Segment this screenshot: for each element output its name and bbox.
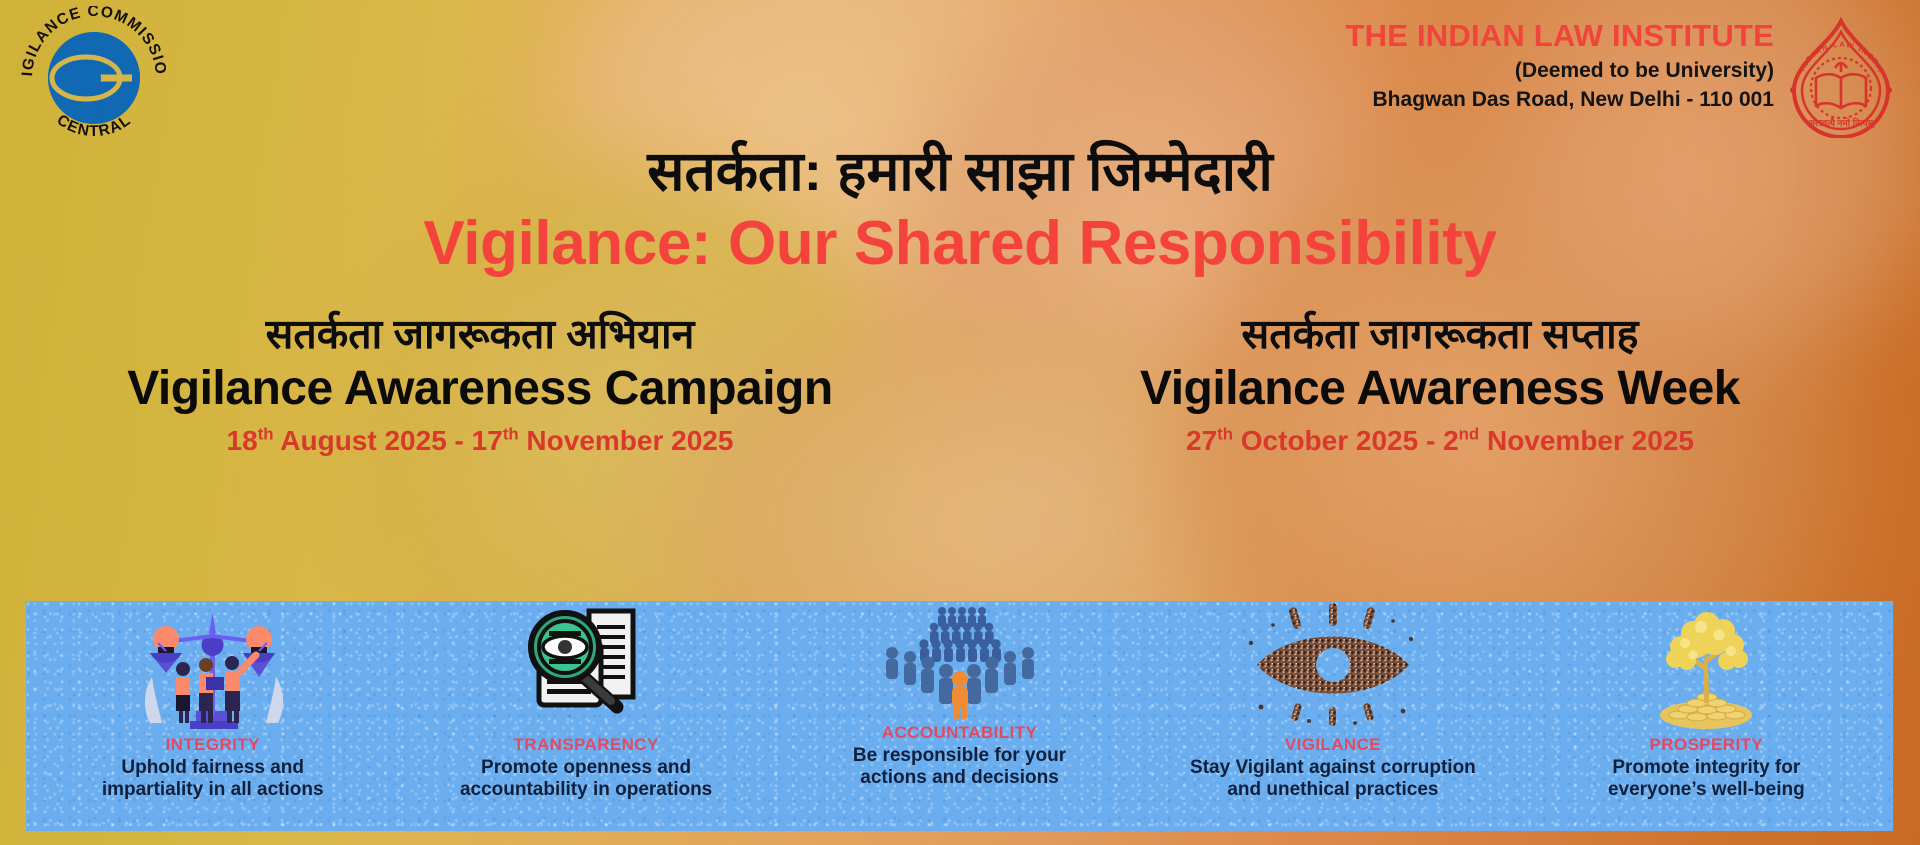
value-description-line1: Stay Vigilant against corruption [1190,757,1476,778]
campaign-date-end-suffix: th [503,425,519,444]
campaign-hindi-title: सतर्कता जागरूकता अभियान [0,310,960,359]
value-description-line2: accountability in operations [460,779,712,800]
value-title: VIGILANCE [1285,735,1381,755]
value-title: TRANSPARENCY [514,735,659,755]
value-description-line1: Promote openness and [481,757,691,778]
week-date-end-day: 2 [1443,425,1459,456]
week-date-start-rest: October 2025 - [1233,425,1443,456]
campaign-columns: सतर्कता जागरूकता अभियान Vigilance Awaren… [0,310,1920,458]
ili-title: THE INDIAN LAW INSTITUTE [1346,20,1774,53]
balance-scale-with-people-icon [128,601,298,733]
magnifier-eye-document-icon [511,601,661,733]
campaign-english-title: Vigilance Awareness Campaign [0,361,960,416]
value-card-accountability: ACCOUNTABILITY Be responsible for your a… [773,601,1146,831]
campaign-date-start-suffix: th [258,425,274,444]
value-description-line1: Promote integrity for [1612,757,1800,778]
value-description: Promote integrity for everyone’s well-be… [1608,757,1805,802]
indian-law-institute-seal-icon: THE INDIAN LAW INSTITUTE सरस्वत्यै नमो न… [1780,16,1902,138]
week-date-start-day: 27 [1186,425,1217,456]
campaign-date-end-rest: November 2025 [519,425,734,456]
vigilance-awareness-banner: VIGILANCE COMMISSION CENTRAL THE INDIAN … [0,0,1920,845]
campaign-date-end-day: 17 [472,425,503,456]
value-description-line2: and unethical practices [1227,779,1438,800]
value-description: Uphold fairness and impartiality in all … [102,757,324,802]
crowd-arrow-leader-icon [870,601,1050,723]
ili-subtitle: (Deemed to be University) [1346,58,1774,84]
ili-address: Bhagwan Das Road, New Delhi - 110 001 [1346,87,1774,113]
core-values-strip: INTEGRITY Uphold fairness and impartiali… [26,601,1893,831]
value-description: Promote openness and accountability in o… [460,757,712,802]
campaign-column-right: सतर्कता जागरूकता सप्ताह Vigilance Awaren… [960,310,1920,458]
week-date-end-rest: November 2025 [1479,425,1694,456]
value-description: Be responsible for your actions and deci… [853,745,1066,790]
campaign-date-range: 18th August 2025 - 17th November 2025 [0,424,960,458]
value-description: Stay Vigilant against corruption and une… [1190,757,1476,802]
golden-tree-coins-icon [1631,601,1781,733]
week-date-end-suffix: nd [1459,425,1480,444]
value-description-line2: actions and decisions [860,767,1059,788]
value-description-line2: impartiality in all actions [102,779,324,800]
value-description-line2: everyone’s well-being [1608,779,1805,800]
campaign-date-start-day: 18 [227,425,258,456]
week-hindi-title: सतर्कता जागरूकता सप्ताह [960,310,1920,359]
value-title: ACCOUNTABILITY [882,723,1037,743]
main-headline: सतर्कता: हमारी साझा जिम्मेदारी Vigilance… [0,140,1920,279]
value-card-vigilance: VIGILANCE Stay Vigilant against corrupti… [1146,601,1519,831]
headline-english: Vigilance: Our Shared Responsibility [0,209,1920,278]
value-card-prosperity: PROSPERITY Promote integrity for everyon… [1520,601,1893,831]
value-title: INTEGRITY [166,735,260,755]
value-card-transparency: TRANSPARENCY Promote openness and accoun… [399,601,772,831]
indian-law-institute-header: THE INDIAN LAW INSTITUTE (Deemed to be U… [1346,16,1902,138]
svg-text:सरस्वत्यै नमो नित्यम्: सरस्वत्यै नमो नित्यम् [1808,117,1875,129]
campaign-date-start-rest: August 2025 - [274,425,472,456]
value-title: PROSPERITY [1650,735,1764,755]
value-description-line1: Be responsible for your [853,745,1066,766]
week-date-start-suffix: th [1217,425,1233,444]
central-vigilance-commission-logo: VIGILANCE COMMISSION CENTRAL [14,6,174,138]
ili-text-block: THE INDIAN LAW INSTITUTE (Deemed to be U… [1346,16,1774,113]
value-card-integrity: INTEGRITY Uphold fairness and impartiali… [26,601,399,831]
week-date-range: 27th October 2025 - 2nd November 2025 [960,424,1920,458]
value-description-line1: Uphold fairness and [121,757,304,778]
week-english-title: Vigilance Awareness Week [960,361,1920,416]
crowd-formed-eye-icon [1243,601,1423,733]
campaign-column-left: सतर्कता जागरूकता अभियान Vigilance Awaren… [0,310,960,458]
headline-hindi: सतर्कता: हमारी साझा जिम्मेदारी [0,140,1920,203]
